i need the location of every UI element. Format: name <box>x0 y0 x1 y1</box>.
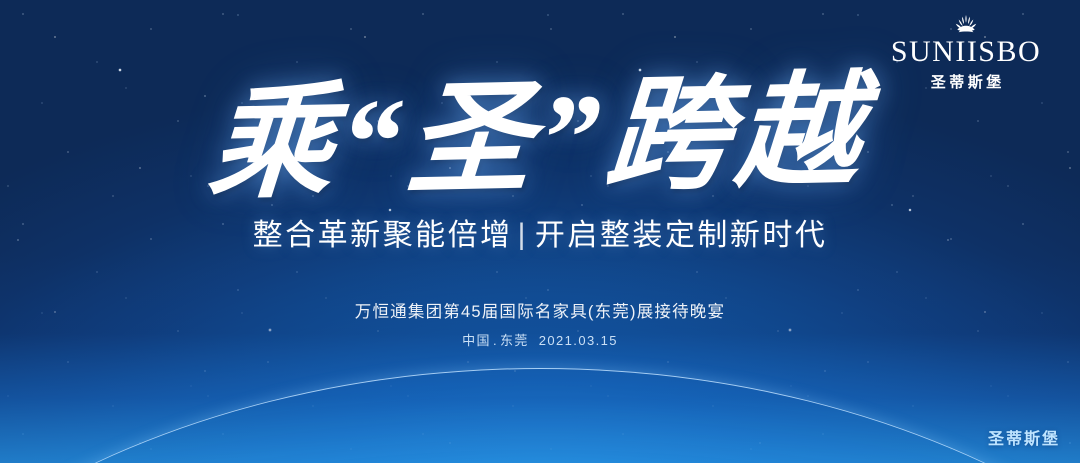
headline-title: 乘“圣”跨越 <box>0 0 1080 215</box>
location-city: 东莞 <box>500 333 529 348</box>
subtitle-left: 整合革新聚能倍增 <box>253 219 513 252</box>
subtitle-right: 开启整装定制新时代 <box>535 219 828 252</box>
event-date: 2021.03.15 <box>539 333 618 348</box>
event-location-date: 中国.东莞2021.03.15 <box>0 333 1080 350</box>
event-name: 万恒通集团第45届国际名家具(东莞)展接待晚宴 <box>0 302 1080 323</box>
horizon-arc <box>0 368 1080 463</box>
subtitle-tagline: 整合革新聚能倍增|开启整装定制新时代 <box>0 218 1080 254</box>
brand-watermark: 圣蒂斯堡 <box>988 425 1060 449</box>
location-country: 中国 <box>462 333 491 348</box>
location-separator: . <box>493 333 498 348</box>
event-banner: SUNIISBO 圣蒂斯堡 乘“圣”跨越 整合革新聚能倍增|开启整装定制新时代 … <box>0 0 1080 463</box>
subtitle-separator: | <box>518 217 528 253</box>
banner-content: 乘“圣”跨越 整合革新聚能倍增|开启整装定制新时代 万恒通集团第45届国际名家具… <box>0 0 1080 350</box>
